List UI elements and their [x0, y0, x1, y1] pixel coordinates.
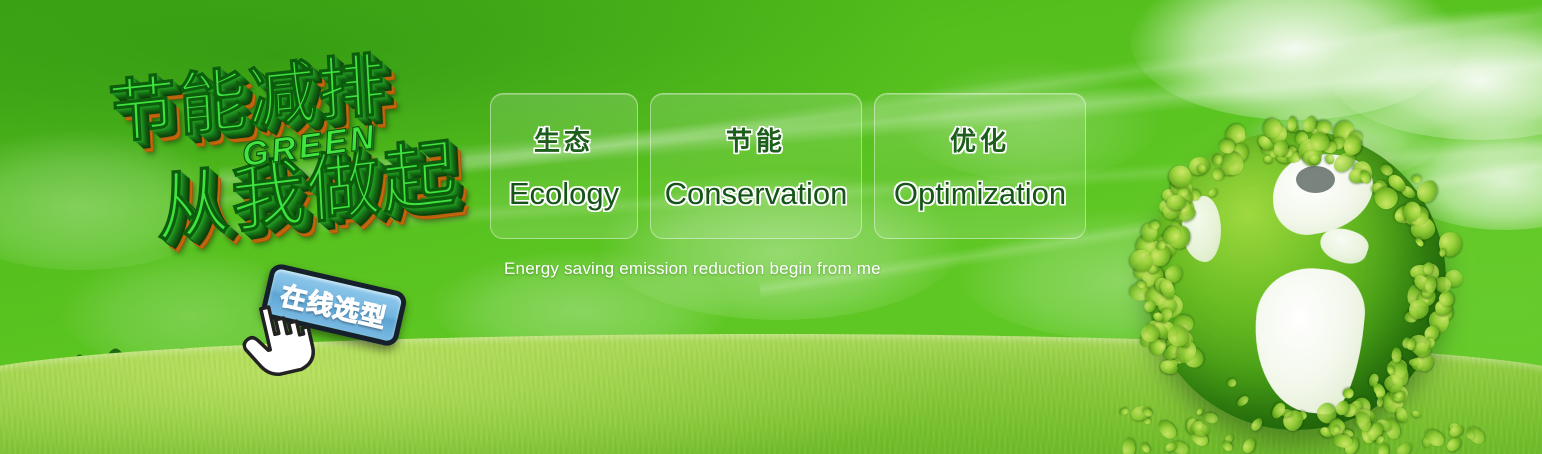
continent-north-america	[1266, 146, 1380, 241]
feature-card-cn-label: 生态	[534, 121, 594, 158]
fallen-leaf	[1394, 406, 1410, 425]
continent-shadow-patch	[1296, 166, 1335, 193]
feature-card-en-label: Ecology	[509, 176, 619, 212]
feature-card-optimization[interactable]: 优化 Optimization	[874, 93, 1086, 239]
fallen-leaf	[1396, 411, 1405, 422]
continent-greenland	[1182, 196, 1221, 262]
tagline: Energy saving emission reduction begin f…	[504, 259, 881, 279]
eco-banner: 节能减排 从我做起 GREEN 在线选型 生态 Ecology 节能 Conse…	[0, 0, 1542, 454]
feature-card-conservation[interactable]: 节能 Conservation	[650, 93, 862, 239]
feature-card-cn-label: 节能	[726, 121, 786, 158]
feature-card-list: 生态 Ecology 节能 Conservation 优化 Optimizati…	[490, 93, 1086, 239]
globe-sphere	[1146, 130, 1446, 430]
feature-card-en-label: Optimization	[894, 176, 1066, 212]
headline-3d: 节能减排 从我做起 GREEN	[88, 22, 503, 279]
feature-card-en-label: Conservation	[665, 176, 848, 212]
leafy-globe	[1146, 130, 1446, 430]
continent-south-america	[1247, 263, 1369, 418]
fallen-leaf	[1411, 409, 1421, 418]
fallen-leaf	[1202, 411, 1219, 425]
leaf	[1410, 174, 1421, 183]
fallen-leaf	[1195, 407, 1204, 417]
feature-card-ecology[interactable]: 生态 Ecology	[490, 93, 638, 239]
feature-card-cn-label: 优化	[950, 121, 1010, 158]
